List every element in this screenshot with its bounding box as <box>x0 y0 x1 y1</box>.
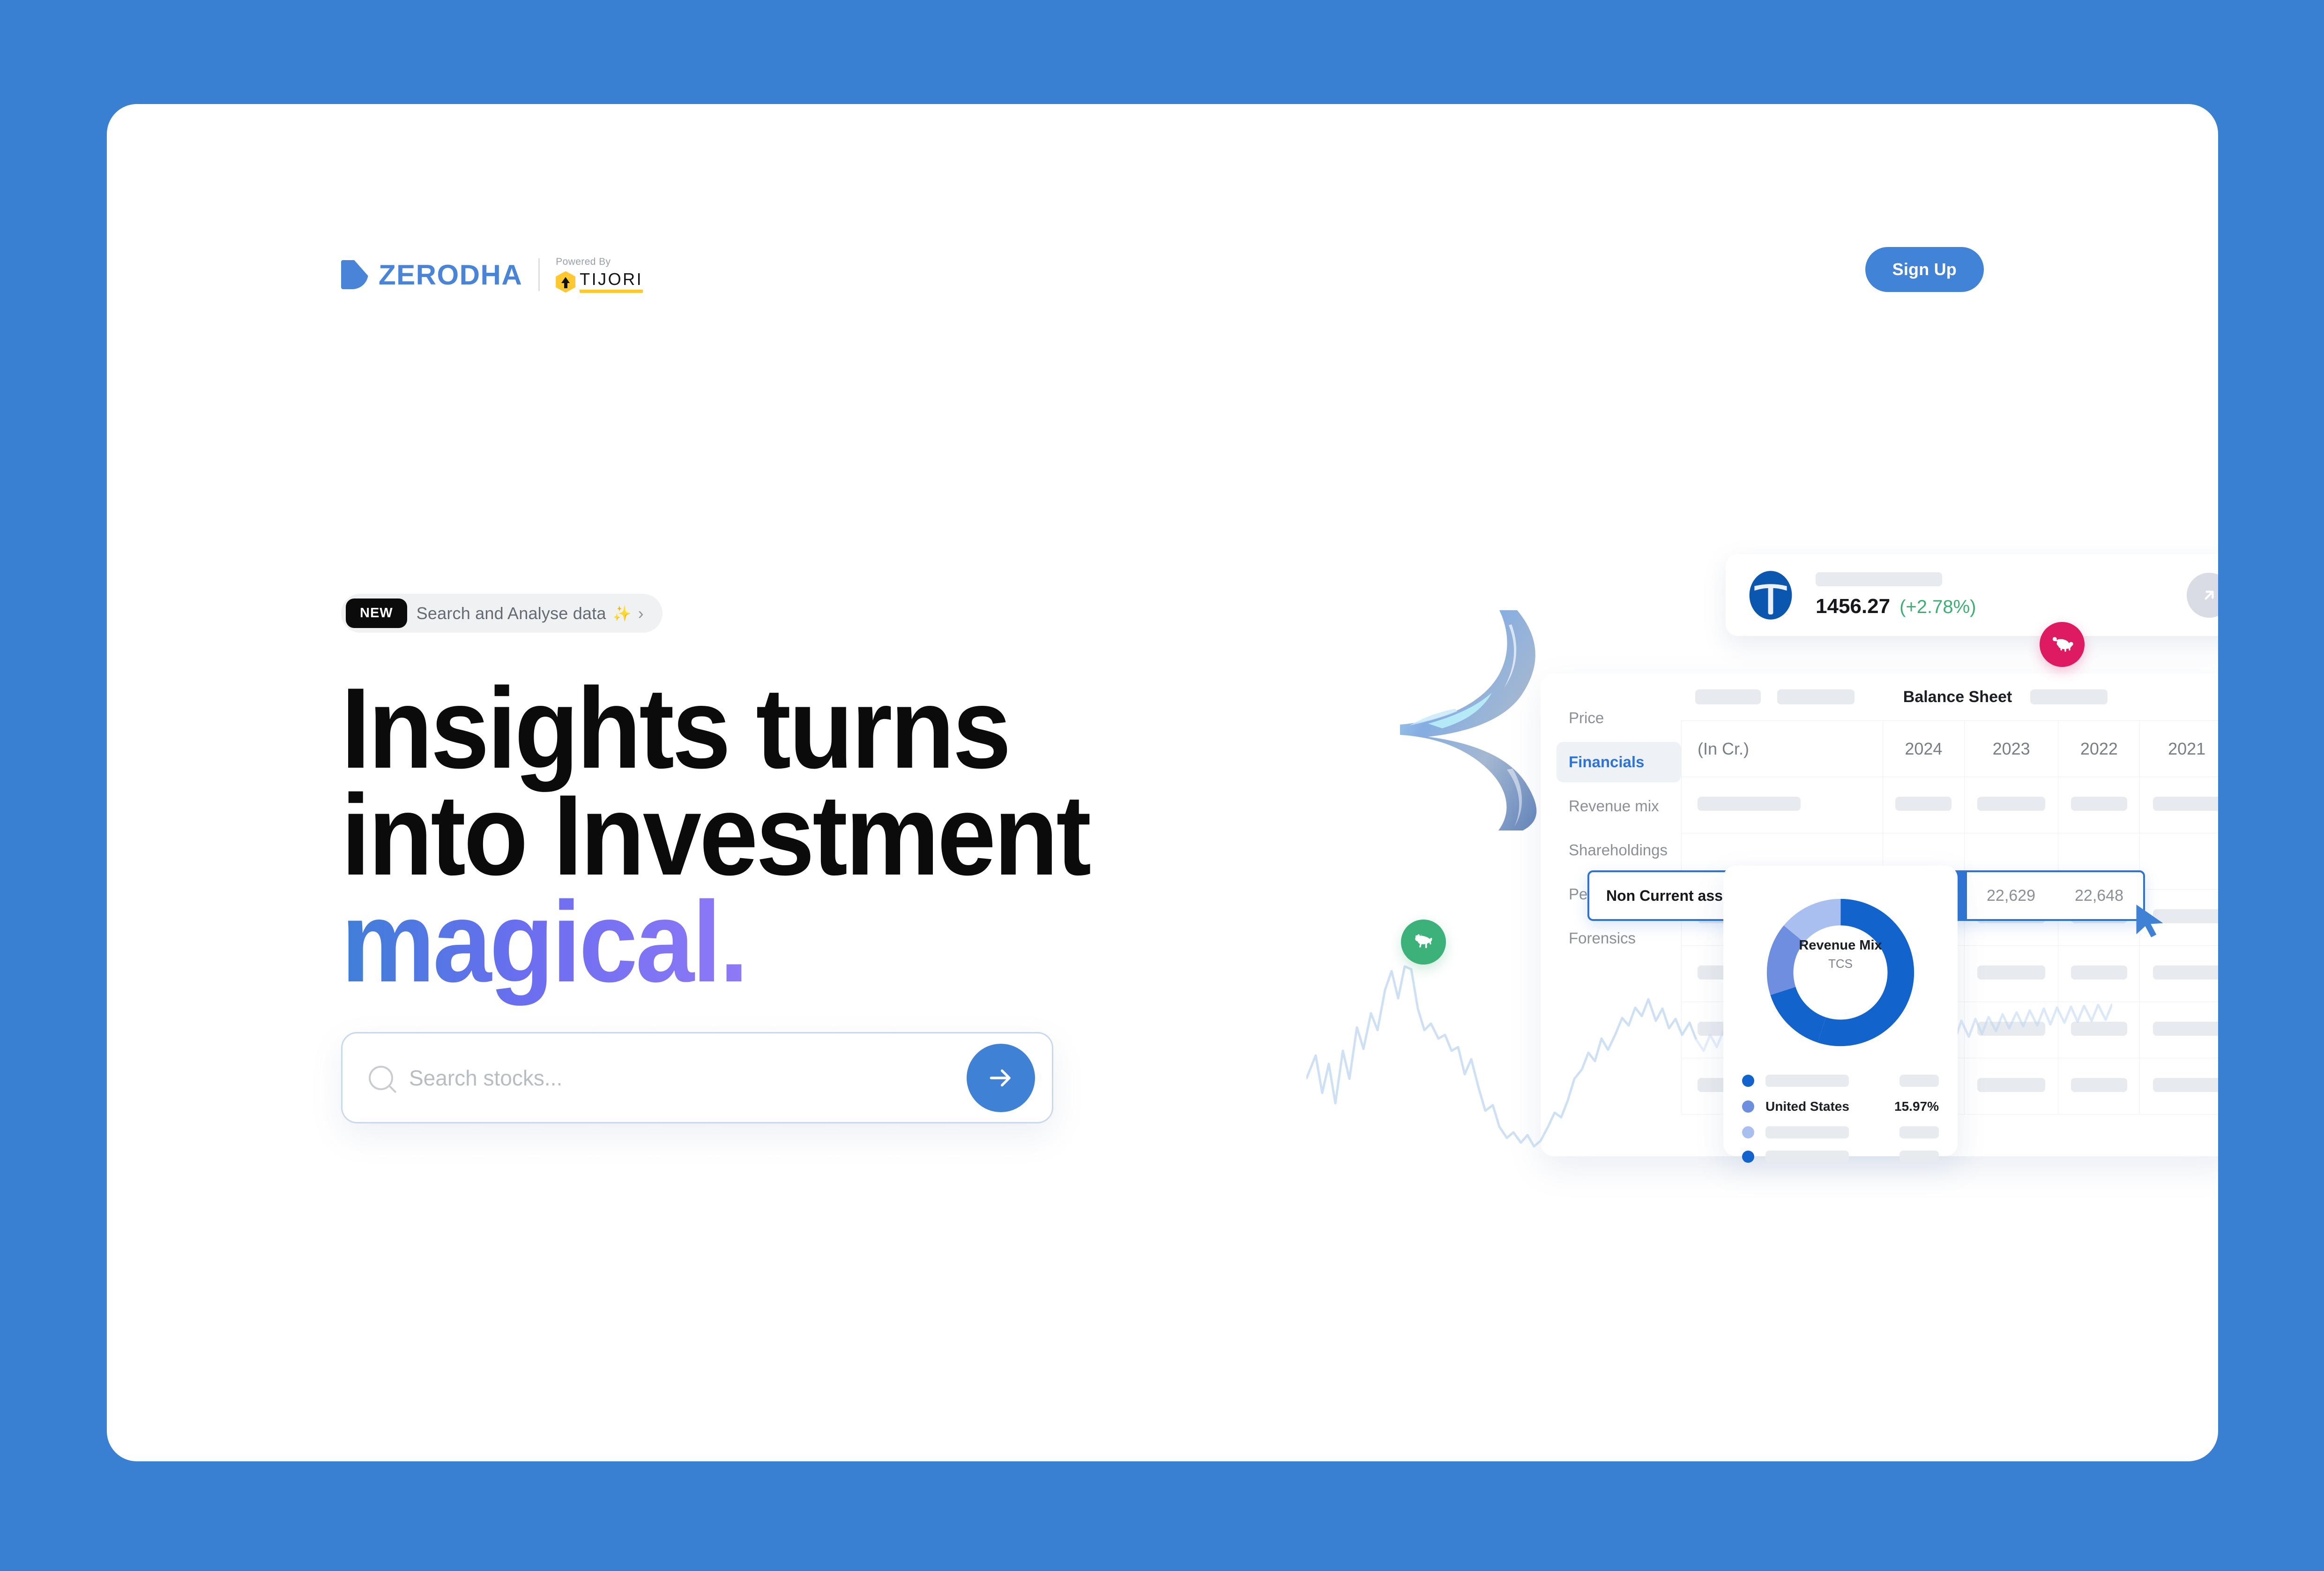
legend-label-placeholder <box>1765 1126 1849 1138</box>
column-header-unit: (In Cr.) <box>1682 721 1883 777</box>
legend-color-dot <box>1742 1100 1754 1113</box>
column-header-2023: 2023 <box>1964 721 2058 777</box>
donut-subtitle: TCS <box>1742 957 1939 971</box>
legend-item <box>1742 1075 1939 1087</box>
legend-item <box>1742 1151 1939 1163</box>
donut-center-label: Revenue Mix TCS <box>1742 938 1939 971</box>
search-submit-button[interactable] <box>967 1044 1035 1112</box>
zerodha-mark-icon <box>341 260 368 289</box>
landing-page-card: ZERODHA Powered By TIJORI Sign Up <box>107 104 2218 1461</box>
legend-value-placeholder <box>1899 1151 1939 1163</box>
table-cell <box>2140 1002 2218 1058</box>
tijori-arrow-up-icon <box>556 271 575 293</box>
tcs-logo-icon <box>1745 570 1796 621</box>
legend-color-dot <box>1742 1126 1754 1138</box>
sidebar-item-revenue-mix[interactable]: Revenue mix <box>1557 786 1681 826</box>
brand-lockup: ZERODHA Powered By TIJORI <box>341 256 643 293</box>
table-cell <box>2140 946 2218 1002</box>
product-illustration: 1456.27 (+2.78%) <box>1255 526 2192 1369</box>
legend-item: United States 15.97% <box>1742 1099 1939 1114</box>
legend-color-dot <box>1742 1075 1754 1087</box>
bear-badge <box>2040 622 2085 667</box>
cell-placeholder <box>1977 797 2045 811</box>
tijori-underline <box>580 290 643 293</box>
legend-label-placeholder <box>1765 1075 1849 1087</box>
zerodha-logo[interactable]: ZERODHA <box>341 259 522 291</box>
stock-price-value: 1456.27 <box>1816 595 1890 618</box>
header-placeholder-1 <box>1695 689 1761 704</box>
tijori-wordmark: TIJORI <box>580 271 643 288</box>
revenue-mix-donut <box>1761 893 1920 1052</box>
column-header-2022: 2022 <box>2058 721 2140 777</box>
revenue-mix-card: Revenue Mix TCS United States 15.97% <box>1723 866 1958 1156</box>
new-badge: NEW <box>346 598 407 628</box>
stock-price-change: (+2.78%) <box>1899 597 1976 618</box>
table-title: Balance Sheet <box>1903 688 2012 706</box>
cell-placeholder <box>1895 797 1952 811</box>
stock-price-info: 1456.27 (+2.78%) <box>1816 572 2187 618</box>
table-cell <box>2058 777 2140 833</box>
legend-label: United States <box>1765 1099 1883 1114</box>
cell-placeholder <box>1698 797 1801 811</box>
bull-badge <box>1401 920 1446 965</box>
table-cell <box>2140 777 2218 833</box>
headline-line-3: magical. <box>341 877 746 1006</box>
donut-chart: Revenue Mix TCS <box>1742 893 1939 1052</box>
legend-color-dot <box>1742 1151 1754 1163</box>
arrow-right-icon <box>986 1063 1015 1092</box>
cell-placeholder <box>2153 965 2218 980</box>
highlighted-row-value-2021: 22,648 <box>2055 887 2143 905</box>
donut-title: Revenue Mix <box>1742 938 1939 953</box>
sign-up-button[interactable]: Sign Up <box>1865 247 1984 292</box>
announcement-pill[interactable]: NEW Search and Analyse data ✨ › <box>341 594 663 633</box>
bull-icon <box>1410 929 1437 955</box>
donut-slice-3 <box>1780 912 1901 1033</box>
table-cell <box>1964 777 2058 833</box>
highlighted-row-value-2022: 22,629 <box>1967 887 2055 905</box>
cell-placeholder <box>2153 797 2218 811</box>
cell-placeholder <box>2071 797 2127 811</box>
announcement-label: Search and Analyse data ✨ › <box>417 604 644 623</box>
announcement-text: Search and Analyse data <box>417 604 606 623</box>
table-row <box>1682 777 2219 833</box>
revenue-mix-legend: United States 15.97% <box>1742 1075 1939 1163</box>
sidebar-item-shareholdings[interactable]: Shareholdings <box>1557 830 1681 870</box>
site-header: ZERODHA Powered By TIJORI Sign Up <box>107 104 2218 301</box>
expand-card-button[interactable] <box>2187 573 2218 618</box>
table-cell <box>1682 777 1883 833</box>
legend-label-placeholder <box>1765 1151 1849 1163</box>
column-header-2021: 2021 <box>2140 721 2218 777</box>
legend-item <box>1742 1126 1939 1138</box>
arrow-up-right-icon <box>2199 585 2218 606</box>
chevron-right-icon: › <box>638 604 644 623</box>
stock-price-card[interactable]: 1456.27 (+2.78%) <box>1726 554 2218 636</box>
sidebar-item-financials[interactable]: Financials <box>1557 742 1681 782</box>
stock-name-placeholder <box>1816 572 1942 586</box>
page-title: Insights turns into Investment magical. <box>341 675 1117 995</box>
header-placeholder-3 <box>2030 689 2108 704</box>
background-price-line-chart <box>1306 938 2112 1154</box>
legend-value-placeholder <box>1899 1075 1939 1087</box>
zerodha-wordmark: ZERODHA <box>379 259 522 291</box>
sparkles-icon: ✨ <box>613 605 632 622</box>
legend-value: 15.97% <box>1894 1099 1939 1114</box>
table-cell <box>2140 833 2218 890</box>
table-cell <box>1883 777 1965 833</box>
cell-placeholder <box>2153 1078 2218 1092</box>
search-input[interactable] <box>409 1065 967 1091</box>
table-header-bar: Balance Sheet <box>1681 673 2218 720</box>
header-placeholder-2 <box>1777 689 1855 704</box>
stock-search-bar[interactable] <box>341 1032 1053 1123</box>
table-cell <box>2140 1058 2218 1115</box>
search-icon <box>369 1066 393 1090</box>
sidebar-item-price[interactable]: Price <box>1557 698 1681 738</box>
mouse-cursor-icon <box>2132 901 2168 941</box>
column-header-2024: 2024 <box>1883 721 1965 777</box>
brand-divider <box>538 258 540 291</box>
cell-placeholder <box>2153 1022 2218 1036</box>
table-header-row: (In Cr.) 2024 2023 2022 2021 <box>1682 721 2219 777</box>
powered-by-label: Powered By <box>556 256 643 268</box>
legend-value-placeholder <box>1899 1126 1939 1138</box>
bear-icon <box>2049 631 2075 658</box>
tijori-lockup[interactable]: Powered By TIJORI <box>556 256 643 293</box>
hero-section: NEW Search and Analyse data ✨ › Insights… <box>341 594 1184 995</box>
